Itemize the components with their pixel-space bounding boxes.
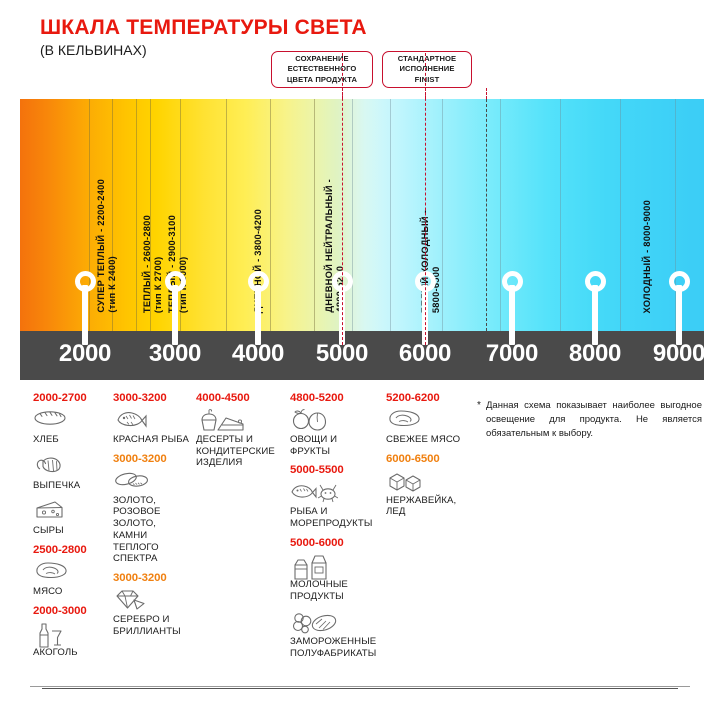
band-divider xyxy=(270,99,271,331)
legend-item-label: ОВОЩИ И ФРУКТЫ xyxy=(290,434,378,457)
ice-icon xyxy=(386,468,478,494)
seafood-icon xyxy=(290,479,378,505)
legend-item-label: ЗАМОРОЖЕННЫЕ ПОЛУФАБРИКАТЫ xyxy=(290,636,378,659)
legend-item-label: НЕРЖАВЕЙКА, ЛЕД xyxy=(386,495,478,518)
fish-icon xyxy=(113,407,193,433)
legend-group: 5200-6200СВЕЖЕЕ МЯСО xyxy=(386,392,478,446)
legend-item: МЯСО xyxy=(33,559,111,598)
pin-stem xyxy=(592,285,598,345)
callout-finist-standard: СТАНДАРТНОЕ ИСПОЛНЕНИЕ FINIST xyxy=(382,51,472,88)
callout-natural-line-1: СОХРАНЕНИЕ xyxy=(287,54,357,64)
callout-natural-color: СОХРАНЕНИЕ ЕСТЕСТВЕННОГО ЦВЕТА ПРОДУКТА xyxy=(271,51,373,88)
legend-item: ХЛЕБ xyxy=(33,407,111,446)
dessert-icon xyxy=(196,407,288,433)
legend-group: 4000-4500ДЕСЕРТЫ И КОНДИТЕРСКИЕ ИЗДЕЛИЯ xyxy=(196,392,288,469)
diamond-icon xyxy=(113,587,193,613)
light-temperature-scale-infographic: ШКАЛА ТЕМПЕРАТУРЫ СВЕТА (В КЕЛЬВИНАХ) СО… xyxy=(0,0,720,704)
legend-range-label: 4000-4500 xyxy=(196,392,288,404)
callout-natural-line-3: ЦВЕТА ПРОДУКТА xyxy=(287,75,357,85)
cheese-icon xyxy=(33,498,111,524)
legend-group: 3000-3200СЕРЕБРО И БРИЛЛИАНТЫ xyxy=(113,572,193,637)
leader-line-grey xyxy=(486,99,487,331)
band-divider xyxy=(390,99,391,331)
legend-item: ВЫПЕЧКА xyxy=(33,453,111,492)
footnote-marker: * xyxy=(477,399,481,414)
legend-item-label: СЕРЕБРО И БРИЛЛИАНТЫ xyxy=(113,614,193,637)
legend-item-label: АКОГОЛЬ xyxy=(33,647,111,659)
legend-item: СВЕЖЕЕ МЯСО xyxy=(386,407,478,446)
band-label: ТЕПЛЫЙ - 2600-2800 (тип К 2700) xyxy=(142,215,164,313)
legend-column-0: 2000-2700ХЛЕБВЫПЕЧКАСЫРЫ2500-2800МЯСО200… xyxy=(33,392,111,666)
pin-head xyxy=(585,271,606,292)
callout-finist-line-1: СТАНДАРТНОЕ xyxy=(398,54,456,64)
band-label: ХОЛОДНЫЙ - 8000-9000 xyxy=(642,200,652,313)
legend-item: РЫБА И МОРЕПРОДУКТЫ xyxy=(290,479,378,529)
band-divider xyxy=(314,99,315,331)
legend-range-label: 2000-2700 xyxy=(33,392,111,404)
footnote: * Данная схема показывает наиболее выгод… xyxy=(486,399,702,440)
dairy-icon xyxy=(290,552,378,578)
legend-range-label: 3000-3200 xyxy=(113,572,193,584)
croissant-icon xyxy=(33,453,111,479)
callout-stub xyxy=(486,88,487,99)
temperature-gradient-bar: СУПЕР ТЕПЛЫЙ - 2200-2400 (тип К 2400)ТЕП… xyxy=(20,99,704,331)
bread-icon xyxy=(33,407,111,433)
band-divider xyxy=(352,99,353,331)
legend-item: СЫРЫ xyxy=(33,498,111,537)
rings-icon xyxy=(113,468,193,494)
legend-item: АКОГОЛЬ xyxy=(33,620,111,659)
band-divider xyxy=(136,99,137,331)
legend-column-3: 4800-5200ОВОЩИ И ФРУКТЫ5000-5500РЫБА И М… xyxy=(290,392,378,667)
legend-range-label: 2000-3000 xyxy=(33,605,111,617)
pin-stem xyxy=(172,285,178,345)
leader-line-red xyxy=(342,53,343,345)
legend-range-label: 4800-5200 xyxy=(290,392,378,404)
band-divider xyxy=(620,99,621,331)
legend-range-label: 3000-3200 xyxy=(113,453,193,465)
pin-head xyxy=(248,271,269,292)
band-divider xyxy=(442,99,443,331)
legend-item-label: МЯСО xyxy=(33,586,111,598)
vegetables-fruits-icon xyxy=(290,407,378,433)
legend-item: КРАСНАЯ РЫБА xyxy=(113,407,193,446)
footnote-text: Данная схема показывает наиболее выгодно… xyxy=(486,400,702,439)
footer-divider xyxy=(30,686,690,687)
pin-head xyxy=(165,271,186,292)
callout-finist-line-3: FINIST xyxy=(398,75,456,85)
legend-range-label: 2500-2800 xyxy=(33,544,111,556)
steak-icon xyxy=(33,559,111,585)
legend-item-label: КРАСНАЯ РЫБА xyxy=(113,434,193,446)
legend-item-label: ХЛЕБ xyxy=(33,434,111,446)
pin-head xyxy=(502,271,523,292)
legend-column-2: 4000-4500ДЕСЕРТЫ И КОНДИТЕРСКИЕ ИЗДЕЛИЯ xyxy=(196,392,288,476)
legend-item-label: РЫБА И МОРЕПРОДУКТЫ xyxy=(290,506,378,529)
page-subtitle: (В КЕЛЬВИНАХ) xyxy=(40,42,147,58)
kelvin-scale-strip: 20003000400050006000700080009000 xyxy=(20,331,704,380)
legend-item: НЕРЖАВЕЙКА, ЛЕД xyxy=(386,468,478,518)
legend-item-label: СВЕЖЕЕ МЯСО xyxy=(386,434,478,446)
legend-item-label: ДЕСЕРТЫ И КОНДИТЕРСКИЕ ИЗДЕЛИЯ xyxy=(196,434,288,469)
legend-item: ЗАМОРОЖЕННЫЕ ПОЛУФАБРИКАТЫ xyxy=(290,609,378,659)
legend-item: СЕРЕБРО И БРИЛЛИАНТЫ xyxy=(113,587,193,637)
pin-stem xyxy=(676,285,682,345)
legend-item: ДЕСЕРТЫ И КОНДИТЕРСКИЕ ИЗДЕЛИЯ xyxy=(196,407,288,469)
legend-item-label: МОЛОЧНЫЕ ПРОДУКТЫ xyxy=(290,579,378,602)
pin-head xyxy=(75,271,96,292)
pin-stem xyxy=(82,285,88,345)
legend-group: 3000-3200ЗОЛОТО, РОЗОВОЕ ЗОЛОТО, КАМНИ Т… xyxy=(113,453,193,565)
callout-finist-line-2: ИСПОЛНЕНИЕ xyxy=(398,64,456,74)
legend-item-label: ВЫПЕЧКА xyxy=(33,480,111,492)
legend-item: ОВОЩИ И ФРУКТЫ xyxy=(290,407,378,457)
legend-item-label: ЗОЛОТО, РОЗОВОЕ ЗОЛОТО, КАМНИ ТЕПЛОГО СП… xyxy=(113,495,193,565)
legend-group: 6000-6500НЕРЖАВЕЙКА, ЛЕД xyxy=(386,453,478,518)
band-divider xyxy=(500,99,501,331)
alcohol-icon xyxy=(33,620,111,646)
band-label: СУПЕР ТЕПЛЫЙ - 2200-2400 (тип К 2400) xyxy=(96,179,118,313)
band-divider xyxy=(89,99,90,331)
band-divider xyxy=(226,99,227,331)
legend-group: 2000-3000АКОГОЛЬ xyxy=(33,605,111,659)
leader-line-red xyxy=(425,53,426,345)
legend-column-1: 3000-3200КРАСНАЯ РЫБА3000-3200ЗОЛОТО, РО… xyxy=(113,392,193,644)
legend-group: 2000-2700ХЛЕБВЫПЕЧКАСЫРЫ xyxy=(33,392,111,537)
legend-item-label: СЫРЫ xyxy=(33,525,111,537)
footer-divider-thick xyxy=(42,688,678,689)
legend-range-label: 5000-6000 xyxy=(290,537,378,549)
legend-group: 2500-2800МЯСО xyxy=(33,544,111,598)
legend-group: 4800-5200ОВОЩИ И ФРУКТЫ xyxy=(290,392,378,457)
fresh-meat-icon xyxy=(386,407,478,433)
page-title: ШКАЛА ТЕМПЕРАТУРЫ СВЕТА xyxy=(40,16,367,40)
legend-group: 3000-3200КРАСНАЯ РЫБА xyxy=(113,392,193,446)
gradient-fill xyxy=(20,99,704,331)
callout-natural-line-2: ЕСТЕСТВЕННОГО xyxy=(287,64,357,74)
band-divider xyxy=(560,99,561,331)
legend-range-label: 3000-3200 xyxy=(113,392,193,404)
legend-range-label: 5000-5500 xyxy=(290,464,378,476)
pin-head xyxy=(669,271,690,292)
legend-range-label: 6000-6500 xyxy=(386,453,478,465)
frozen-icon xyxy=(290,609,378,635)
legend-item: МОЛОЧНЫЕ ПРОДУКТЫ xyxy=(290,552,378,602)
legend-group: 5000-5500РЫБА И МОРЕПРОДУКТЫ xyxy=(290,464,378,529)
legend-item: ЗОЛОТО, РОЗОВОЕ ЗОЛОТО, КАМНИ ТЕПЛОГО СП… xyxy=(113,468,193,565)
pin-stem xyxy=(509,285,515,345)
legend-group: 5000-6000МОЛОЧНЫЕ ПРОДУКТЫЗАМОРОЖЕННЫЕ П… xyxy=(290,537,378,660)
legend-column-4: 5200-6200СВЕЖЕЕ МЯСО6000-6500НЕРЖАВЕЙКА,… xyxy=(386,392,478,525)
pin-stem xyxy=(255,285,261,345)
legend-range-label: 5200-6200 xyxy=(386,392,478,404)
